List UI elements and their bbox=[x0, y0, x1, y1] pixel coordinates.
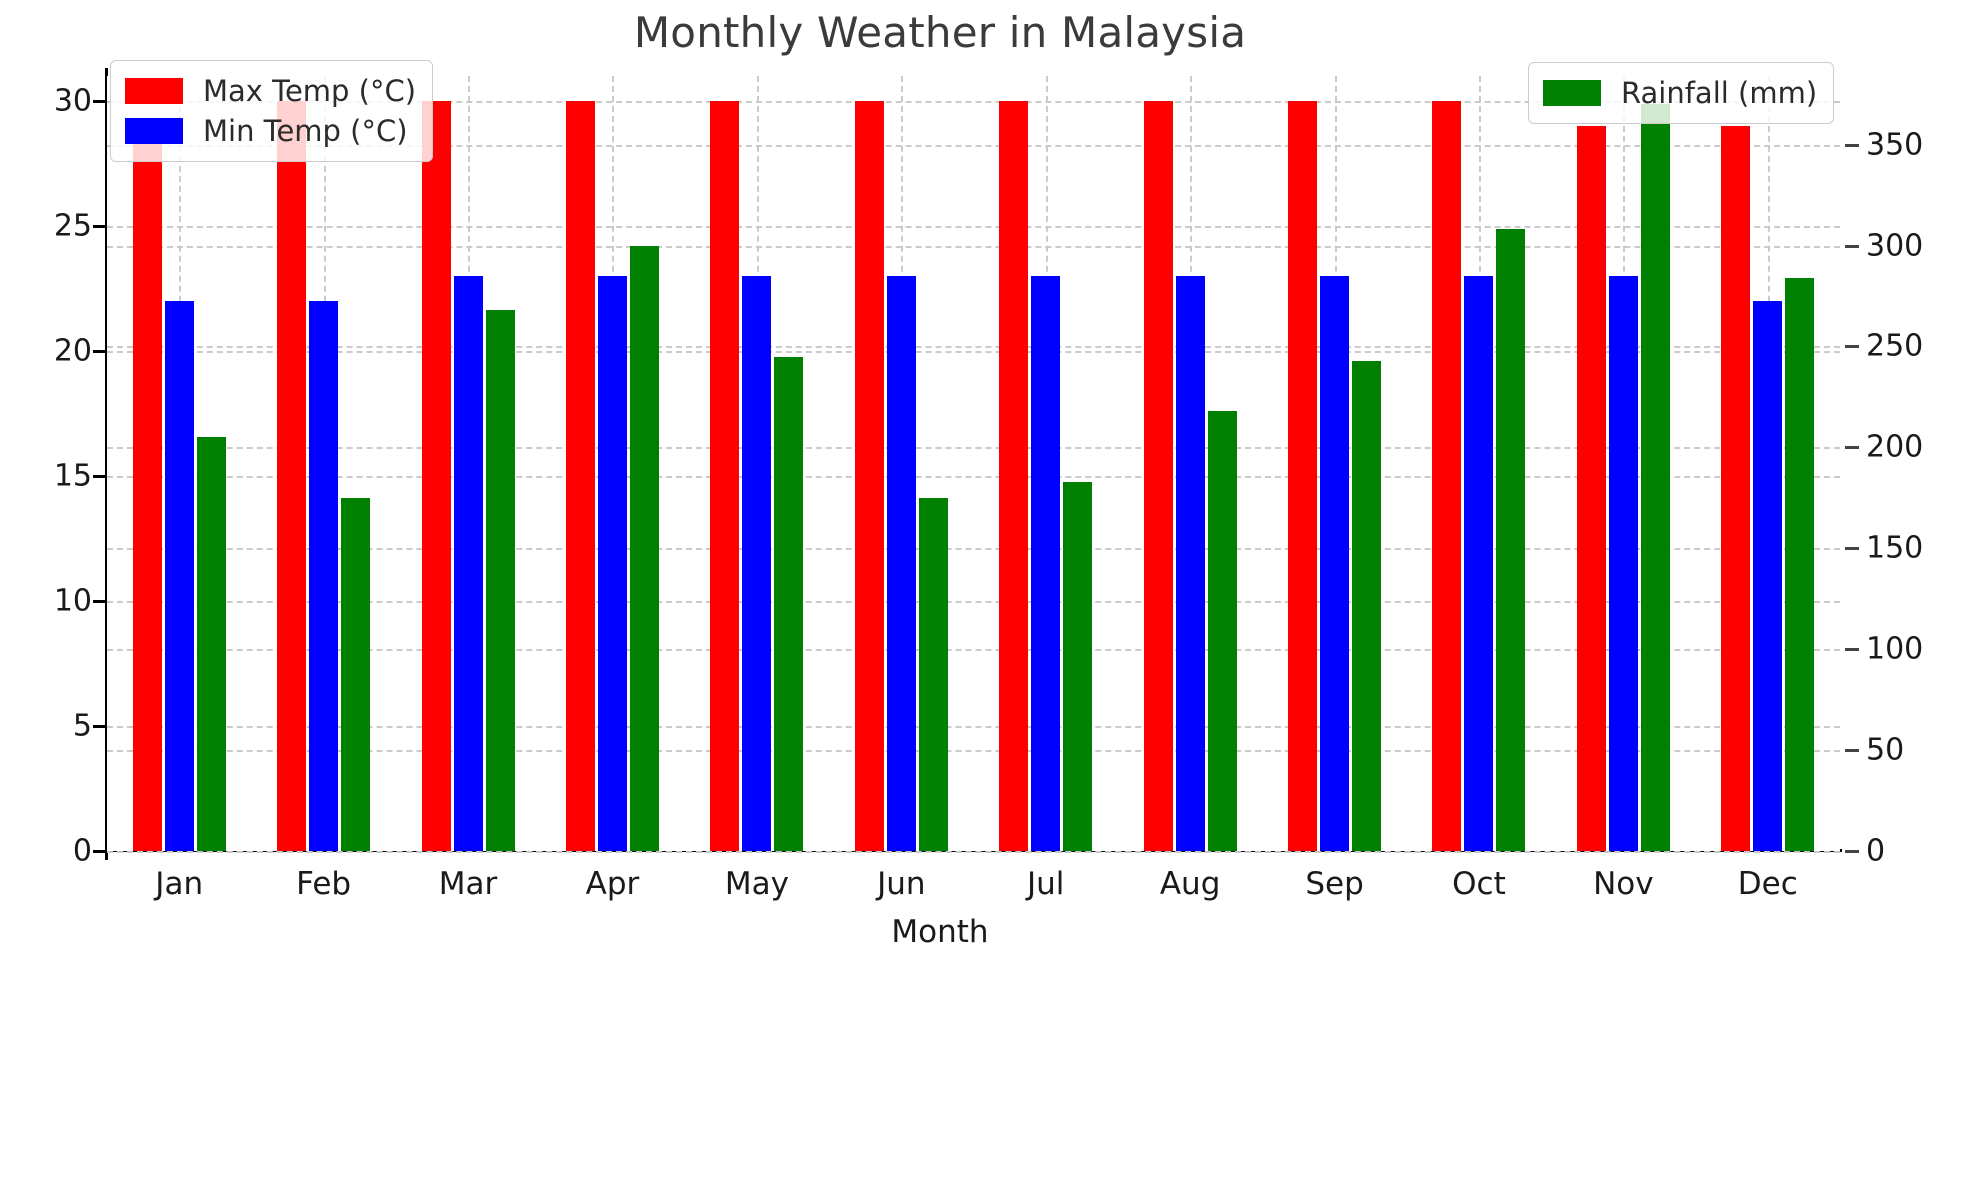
x-axis-tick-label: Jul bbox=[1027, 866, 1064, 902]
bar-min-temp bbox=[454, 276, 483, 851]
x-axis-tick-label: Apr bbox=[586, 866, 640, 902]
bar-max-temp bbox=[1144, 101, 1173, 851]
legend-swatch-icon bbox=[125, 78, 183, 104]
bar-min-temp bbox=[1609, 276, 1638, 851]
plot-area bbox=[107, 76, 1840, 851]
y-axis-right-tick-label: 150 bbox=[1866, 531, 1923, 566]
y-axis-right-tick-mark bbox=[1845, 749, 1859, 752]
y-axis-right-tick-mark bbox=[1845, 648, 1859, 651]
y-axis-left-tick-mark bbox=[93, 475, 106, 478]
gridline-horizontal-secondary bbox=[107, 851, 1840, 853]
bar-min-temp bbox=[742, 276, 771, 851]
y-axis-right-tick-mark bbox=[1845, 446, 1859, 449]
bar-max-temp bbox=[422, 101, 451, 851]
legend-swatch-icon bbox=[125, 118, 183, 144]
bar-min-temp bbox=[1320, 276, 1349, 851]
bar-max-temp bbox=[999, 101, 1028, 851]
y-axis-right-tick-label: 0 bbox=[1866, 834, 1885, 869]
y-axis-left-tick-label: 10 bbox=[22, 584, 92, 619]
y-axis-right-tick-label: 300 bbox=[1866, 228, 1923, 263]
bar-min-temp bbox=[1031, 276, 1060, 851]
legend-temperature[interactable]: Max Temp (°C)Min Temp (°C) bbox=[110, 60, 433, 162]
bar-max-temp bbox=[277, 101, 306, 851]
y-axis-left-tick-label: 0 bbox=[22, 834, 92, 869]
x-axis-tick-label: Jan bbox=[155, 866, 203, 902]
y-axis-left-tick-label: 30 bbox=[22, 84, 92, 119]
bar-max-temp bbox=[1288, 101, 1317, 851]
bar-max-temp bbox=[1721, 126, 1750, 851]
y-axis-left-tick-label: 5 bbox=[22, 709, 92, 744]
bar-rainfall bbox=[1496, 229, 1525, 851]
bar-max-temp bbox=[566, 101, 595, 851]
x-axis-tick-label: Feb bbox=[296, 866, 351, 902]
bar-rainfall bbox=[630, 246, 659, 851]
legend-item[interactable]: Min Temp (°C) bbox=[125, 111, 416, 151]
bar-min-temp bbox=[1176, 276, 1205, 851]
x-axis-tick-label: Aug bbox=[1160, 866, 1221, 902]
y-axis-right-tick-mark bbox=[1845, 245, 1859, 248]
y-axis-right-tick-mark bbox=[1845, 850, 1859, 853]
bar-min-temp bbox=[887, 276, 916, 851]
bar-rainfall bbox=[1785, 278, 1814, 851]
y-axis-left-tick-mark bbox=[93, 725, 106, 728]
x-axis-tick-label: May bbox=[725, 866, 789, 902]
x-axis-tick-label: Jun bbox=[877, 866, 925, 902]
chart-title: Monthly Weather in Malaysia bbox=[0, 8, 1880, 57]
y-axis-right-tick-label: 350 bbox=[1866, 127, 1923, 162]
y-axis-left-tick-label: 15 bbox=[22, 459, 92, 494]
y-axis-right-tick-label: 250 bbox=[1866, 329, 1923, 364]
bar-min-temp bbox=[598, 276, 627, 851]
bar-max-temp bbox=[855, 101, 884, 851]
bar-min-temp bbox=[1753, 301, 1782, 851]
bar-rainfall bbox=[919, 498, 948, 851]
legend-item[interactable]: Rainfall (mm) bbox=[1543, 73, 1817, 113]
y-axis-left-tick-mark bbox=[93, 600, 106, 603]
legend-item-label: Rainfall (mm) bbox=[1621, 76, 1817, 110]
bar-rainfall bbox=[774, 357, 803, 851]
x-axis-tick-label: Nov bbox=[1593, 866, 1654, 902]
y-axis-right-tick-mark bbox=[1845, 345, 1859, 348]
bar-max-temp bbox=[1577, 126, 1606, 851]
bar-rainfall bbox=[1641, 104, 1670, 851]
bar-rainfall bbox=[341, 498, 370, 851]
y-axis-right-tick-label: 200 bbox=[1866, 430, 1923, 465]
bar-max-temp bbox=[133, 126, 162, 851]
y-axis-right-tick-label: 50 bbox=[1866, 733, 1904, 768]
bar-max-temp bbox=[710, 101, 739, 851]
y-axis-left-tick-mark bbox=[93, 850, 106, 853]
y-axis-left-tick-mark bbox=[93, 225, 106, 228]
bar-rainfall bbox=[1063, 482, 1092, 851]
x-axis-tick-label: Sep bbox=[1305, 866, 1363, 902]
legend-item[interactable]: Max Temp (°C) bbox=[125, 71, 416, 111]
x-axis-tick-label: Oct bbox=[1452, 866, 1506, 902]
bar-min-temp bbox=[1464, 276, 1493, 851]
y-axis-right-title-wrap: Rainfall (mm) bbox=[1920, 0, 1980, 930]
x-axis-tick-label: Dec bbox=[1738, 866, 1798, 902]
x-axis-tick-label: Mar bbox=[439, 866, 498, 902]
bar-max-temp bbox=[1432, 101, 1461, 851]
bar-min-temp bbox=[165, 301, 194, 851]
bar-rainfall bbox=[1352, 361, 1381, 851]
y-axis-left-tick-label: 25 bbox=[22, 209, 92, 244]
bar-min-temp bbox=[309, 301, 338, 851]
y-axis-left-tick-mark bbox=[93, 100, 106, 103]
y-axis-right-tick-mark bbox=[1845, 144, 1859, 147]
legend-rainfall[interactable]: Rainfall (mm) bbox=[1528, 62, 1834, 124]
bar-rainfall bbox=[197, 437, 226, 851]
legend-item-label: Max Temp (°C) bbox=[203, 74, 416, 108]
bar-rainfall bbox=[486, 310, 515, 851]
x-axis-title: Month bbox=[0, 914, 1880, 950]
legend-swatch-icon bbox=[1543, 80, 1601, 106]
y-axis-left-tick-mark bbox=[93, 350, 106, 353]
y-axis-right-tick-label: 100 bbox=[1866, 632, 1923, 667]
chart-canvas: Monthly Weather in Malaysia Temperature … bbox=[0, 0, 1980, 1180]
y-axis-right-tick-mark bbox=[1845, 547, 1859, 550]
legend-item-label: Min Temp (°C) bbox=[203, 114, 408, 148]
y-axis-left-tick-label: 20 bbox=[22, 334, 92, 369]
bar-rainfall bbox=[1208, 411, 1237, 851]
